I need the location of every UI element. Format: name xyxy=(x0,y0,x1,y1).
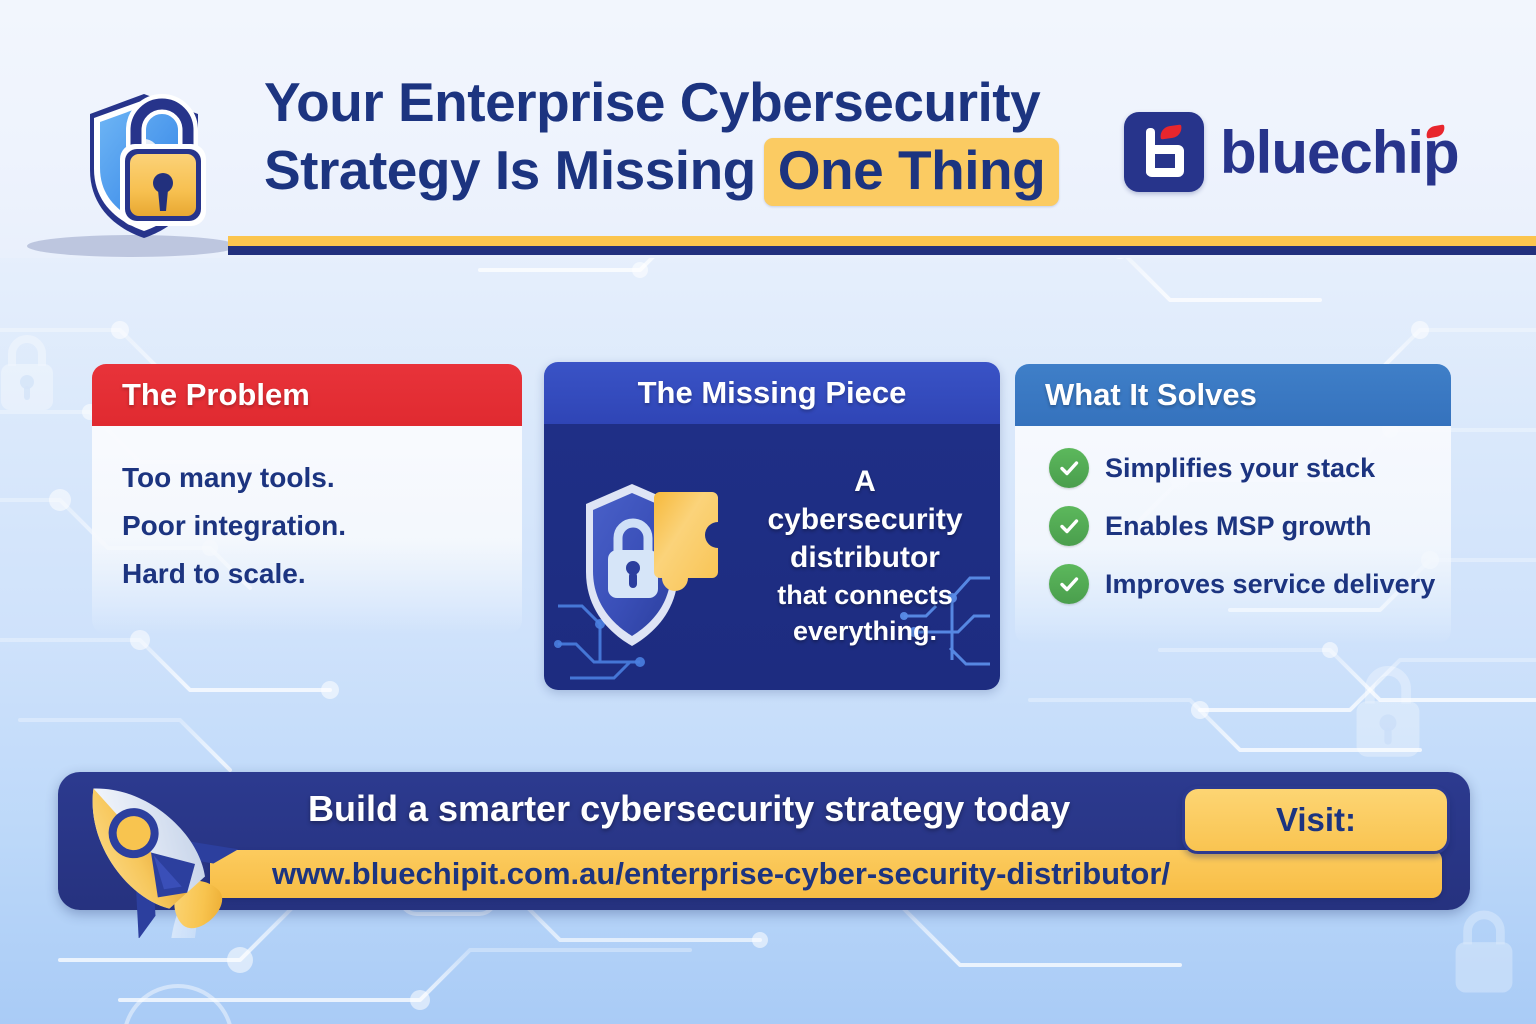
card-what-it-solves: What It Solves Simplifies your stack Ena… xyxy=(1015,364,1451,644)
card-what-it-solves-body: Simplifies your stack Enables MSP growth… xyxy=(1015,426,1451,644)
missing-piece-line-1: A xyxy=(752,463,978,501)
logo-red-leaf-icon xyxy=(1159,125,1182,140)
card-the-problem-body: Too many tools. Poor integration. Hard t… xyxy=(92,426,522,634)
card-the-problem-title: The Problem xyxy=(92,364,522,426)
ghost-lock-icon xyxy=(0,330,62,416)
solve-item: Simplifies your stack xyxy=(1049,448,1429,488)
logo-b-bowl xyxy=(1146,145,1184,177)
solve-item-label: Enables MSP growth xyxy=(1105,511,1372,542)
ghost-lock-icon xyxy=(1345,660,1431,764)
cta-headline: Build a smarter cybersecurity strategy t… xyxy=(308,788,1208,830)
solve-item: Improves service delivery xyxy=(1049,564,1429,604)
solve-item-label: Simplifies your stack xyxy=(1105,453,1375,484)
cta-url-bar[interactable]: www.bluechipit.com.au/enterprise-cyber-s… xyxy=(210,850,1442,898)
card-the-missing-piece-body: A cybersecurity distributor that connect… xyxy=(544,424,1000,690)
card-the-missing-piece-title: The Missing Piece xyxy=(544,362,1000,424)
check-circle-icon xyxy=(1049,564,1089,604)
solve-item-label: Improves service delivery xyxy=(1105,569,1435,600)
missing-piece-line-5: everything. xyxy=(752,613,978,649)
headline-highlight: One Thing xyxy=(764,138,1059,206)
problem-line-2: Poor integration. xyxy=(122,502,492,550)
ghost-lock-icon xyxy=(1445,905,1523,999)
headline-line-1: Your Enterprise Cybersecurity xyxy=(264,68,1104,136)
bluechip-logo-mark-icon xyxy=(1124,112,1204,192)
solve-item: Enables MSP growth xyxy=(1049,506,1429,546)
missing-piece-line-4: that connects xyxy=(752,577,978,613)
shield-lock-hero-icon xyxy=(12,18,262,268)
card-the-missing-piece: The Missing Piece xyxy=(544,362,1000,690)
card-the-problem: The Problem Too many tools. Poor integra… xyxy=(92,364,522,634)
divider-navy-stripe xyxy=(228,246,1536,255)
check-circle-icon xyxy=(1049,506,1089,546)
problem-line-3: Hard to scale. xyxy=(122,550,492,598)
infographic-canvas: Your Enterprise Cybersecurity Strategy I… xyxy=(0,0,1536,1024)
visit-button[interactable]: Visit: xyxy=(1182,786,1450,854)
bluechip-wordmark-text: bluechip xyxy=(1220,119,1459,186)
missing-piece-text: A cybersecurity distributor that connect… xyxy=(752,463,982,649)
bluechip-logo[interactable]: bluechip xyxy=(1124,112,1459,192)
divider-amber-stripe xyxy=(228,236,1536,246)
headline-line-2-text: Strategy Is Missing xyxy=(264,139,756,201)
missing-piece-line-3: distributor xyxy=(752,539,978,577)
cta-url-text: www.bluechipit.com.au/enterprise-cyber-s… xyxy=(272,856,1170,892)
headline-line-2: Strategy Is MissingOne Thing xyxy=(264,136,1104,206)
card-what-it-solves-title: What It Solves xyxy=(1015,364,1451,426)
check-circle-icon xyxy=(1049,448,1089,488)
shield-lock-puzzle-icon xyxy=(562,456,752,656)
header-divider xyxy=(228,236,1536,255)
bluechip-wordmark: bluechip xyxy=(1220,118,1459,187)
missing-piece-line-2: cybersecurity xyxy=(752,501,978,539)
page-headline: Your Enterprise Cybersecurity Strategy I… xyxy=(264,68,1104,206)
problem-line-1: Too many tools. xyxy=(122,454,492,502)
rocket-icon xyxy=(52,758,242,938)
visit-button-label: Visit: xyxy=(1276,801,1356,839)
